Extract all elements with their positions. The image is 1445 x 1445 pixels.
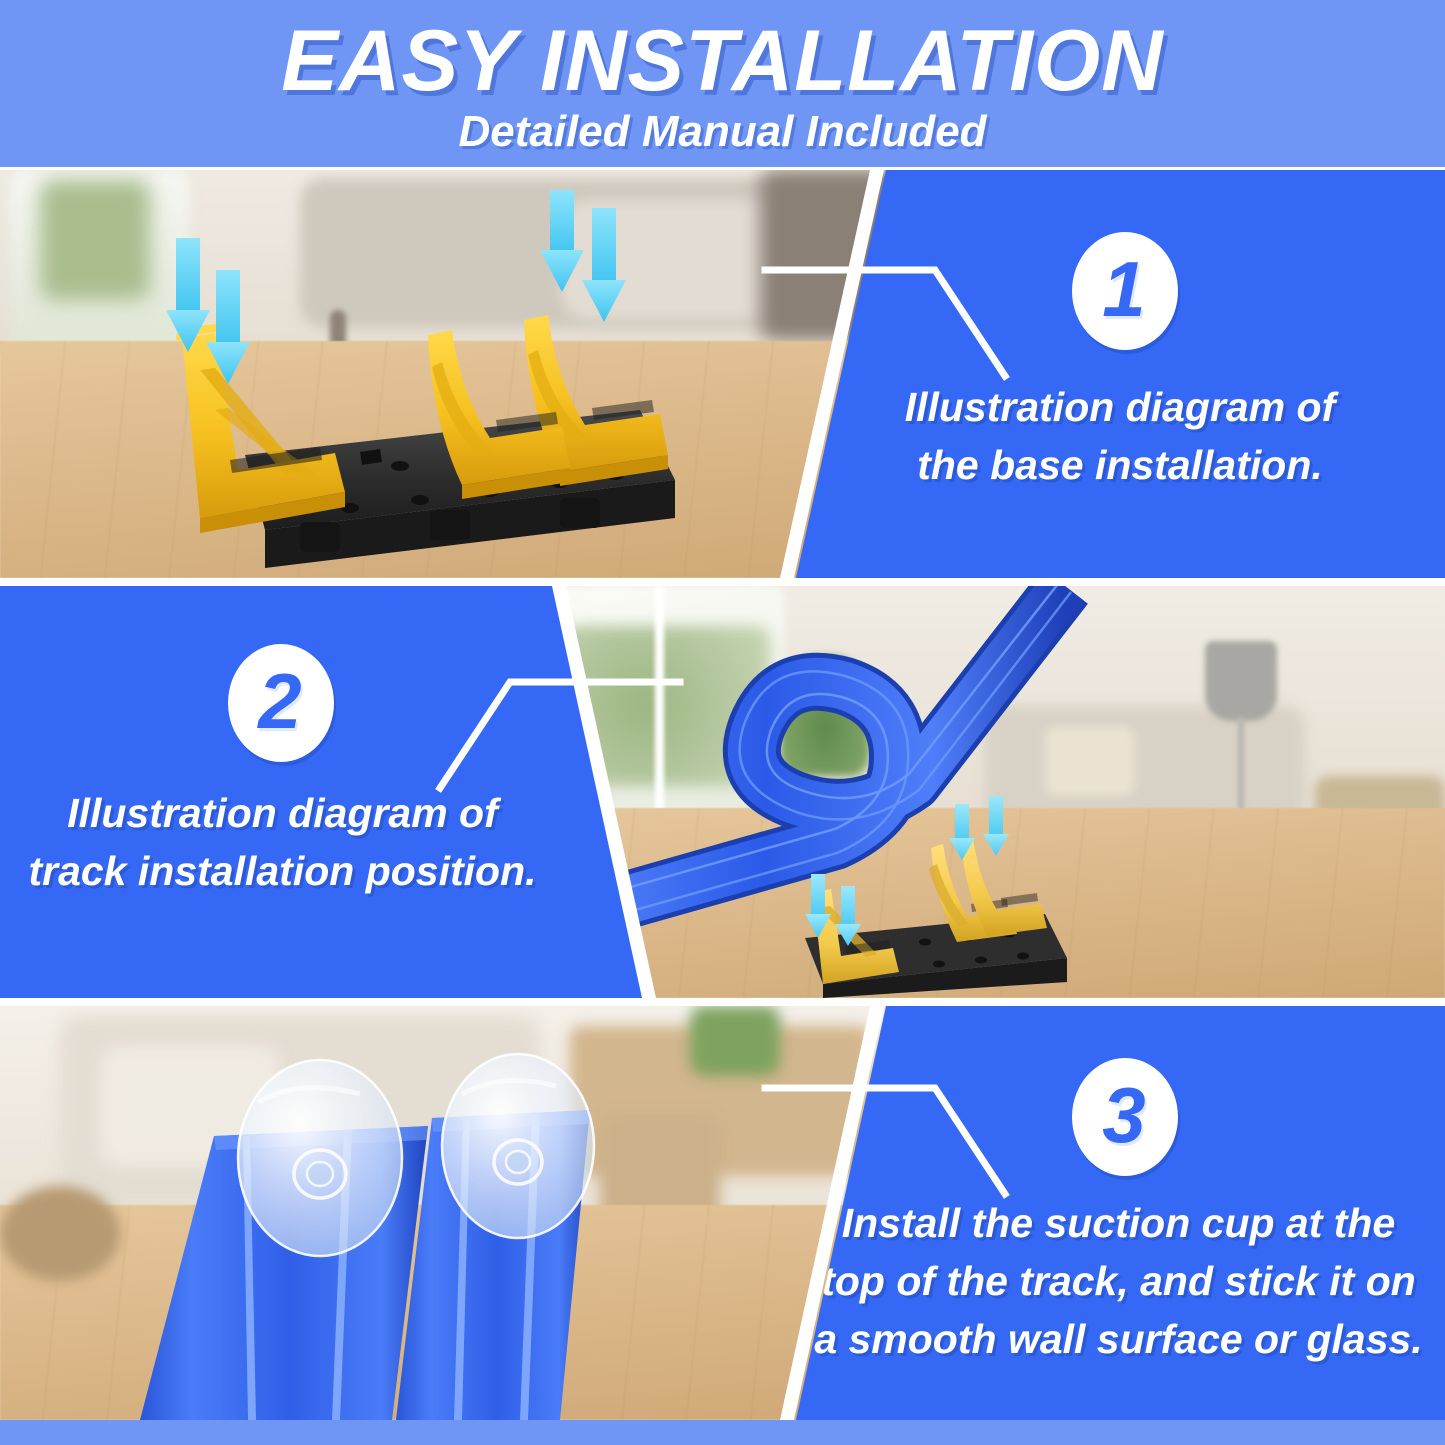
step-row-3: 3 Install the suction cup at the top of … bbox=[0, 1006, 1445, 1420]
suction-cup-left bbox=[238, 1060, 402, 1256]
page-title: EASY INSTALLATION bbox=[7, 18, 1438, 104]
step-row-2: 2 Illustration diagram of track installa… bbox=[0, 586, 1445, 998]
row-divider-1 bbox=[0, 578, 1445, 586]
cyan-arrow-3 bbox=[540, 190, 584, 292]
step-1-caption: Illustration diagram of the base install… bbox=[810, 378, 1430, 494]
cyan-arrow-4 bbox=[582, 208, 626, 322]
step-3-number: 3 bbox=[1102, 1076, 1145, 1154]
track-installation-scene bbox=[505, 586, 1445, 998]
row-divider-2 bbox=[0, 998, 1445, 1006]
step-3-badge: 3 bbox=[1072, 1058, 1178, 1176]
page-subtitle: Detailed Manual Included bbox=[0, 110, 1445, 154]
step-1-badge: 1 bbox=[1072, 232, 1178, 350]
yellow-bracket-right bbox=[428, 315, 668, 499]
suction-cup-right bbox=[442, 1054, 594, 1238]
step-row-1: 1 Illustration diagram of the base insta… bbox=[0, 170, 1445, 578]
step-2-number: 2 bbox=[258, 662, 301, 740]
header-banner: EASY INSTALLATION Detailed Manual Includ… bbox=[0, 0, 1445, 167]
step-1-number: 1 bbox=[1102, 250, 1145, 328]
footer-strip bbox=[0, 1420, 1445, 1445]
step-2-badge: 2 bbox=[228, 644, 334, 762]
yellow-bracket-left bbox=[176, 324, 345, 533]
step-2-caption: Illustration diagram of track installati… bbox=[10, 784, 555, 900]
cyan-arrow-group bbox=[166, 190, 626, 384]
cyan-arrow-4 bbox=[983, 796, 1009, 856]
step-3-caption: Install the suction cup at the top of th… bbox=[796, 1194, 1441, 1369]
infographic-page: EASY INSTALLATION Detailed Manual Includ… bbox=[0, 0, 1445, 1445]
step-2-photo bbox=[505, 586, 1445, 998]
step-2-product-illustration bbox=[505, 586, 1445, 998]
